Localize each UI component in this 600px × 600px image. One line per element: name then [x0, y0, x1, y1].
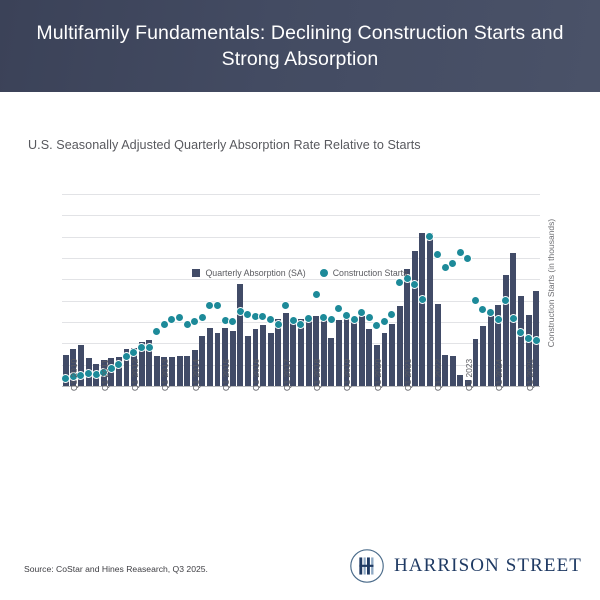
- bar: [298, 319, 304, 386]
- x-axis-tick-label: Q1 2018: [312, 359, 322, 391]
- logo-wordmark: HARRISON STREET: [394, 555, 582, 577]
- x-axis-tick-label: Q1 2015: [221, 359, 231, 391]
- scatter-point: [471, 296, 480, 305]
- bar: [351, 319, 357, 386]
- bar: [366, 329, 372, 386]
- bar: [275, 319, 281, 386]
- gridline: [62, 301, 540, 302]
- scatter-point: [152, 327, 161, 336]
- x-axis-tick-label: Q1 2021: [403, 359, 413, 391]
- bar: [245, 336, 251, 386]
- bar: [488, 316, 494, 386]
- plot-area: 020406080100120140160180 020406080100120…: [62, 194, 540, 386]
- bar: [419, 233, 425, 386]
- scatter-point: [425, 232, 434, 241]
- page-root: Multifamily Fundamentals: Declining Cons…: [0, 0, 600, 600]
- scatter-point: [213, 301, 222, 310]
- chart-container: Quarterly Absorption (SA, in thousands) …: [0, 182, 600, 482]
- bar: [389, 324, 395, 386]
- scatter-point: [463, 254, 472, 263]
- y-axis-right-label: Construction Starts (in thousands): [546, 218, 556, 348]
- x-axis-tick-label: Q1 2012: [130, 359, 140, 391]
- harrison-street-monogram-icon: [349, 548, 385, 584]
- scatter-point: [274, 320, 283, 329]
- x-axis-tick-label: Q1 2011: [100, 359, 110, 391]
- legend-square-icon: [192, 269, 200, 277]
- scatter-point: [532, 336, 541, 345]
- bar: [457, 375, 463, 386]
- scatter-point: [486, 308, 495, 317]
- source-note: Source: CoStar and Hines Reasearch, Q3 2…: [24, 564, 208, 574]
- x-axis-tick-label: Q1 2022: [433, 359, 443, 391]
- scatter-point: [281, 301, 290, 310]
- scatter-point: [350, 315, 359, 324]
- scatter-point: [145, 343, 154, 352]
- bar: [177, 356, 183, 386]
- x-axis-tick-label: Q1 2023: [464, 359, 474, 391]
- legend-item[interactable]: Quarterly Absorption (SA): [192, 268, 305, 278]
- gridline: [62, 279, 540, 280]
- x-axis-tick-label: Q1 2020: [373, 359, 383, 391]
- scatter-point: [327, 315, 336, 324]
- scatter-point: [175, 313, 184, 322]
- page-title: Multifamily Fundamentals: Declining Cons…: [0, 20, 600, 72]
- bar: [442, 355, 448, 386]
- scatter-point: [365, 313, 374, 322]
- scatter-point: [228, 317, 237, 326]
- bar: [215, 333, 221, 386]
- bar: [397, 306, 403, 386]
- x-axis-tick-label: Q1 2024: [494, 359, 504, 391]
- bar: [336, 320, 342, 386]
- bar: [306, 316, 312, 386]
- chart-legend: Quarterly Absorption (SA)Construction St…: [0, 268, 600, 278]
- legend-circle-icon: [320, 269, 328, 277]
- legend-item[interactable]: Construction Starts: [320, 268, 408, 278]
- bar: [184, 356, 190, 386]
- scatter-point: [410, 280, 419, 289]
- bar: [359, 316, 365, 386]
- bar: [450, 356, 456, 386]
- scatter-point: [334, 304, 343, 313]
- gridline: [62, 237, 540, 238]
- bar: [237, 284, 243, 386]
- scatter-point: [509, 314, 518, 323]
- x-axis-tick-label: Q1 2014: [191, 359, 201, 391]
- scatter-point: [312, 290, 321, 299]
- bar: [518, 296, 524, 386]
- x-axis-tick-label: Q1 2017: [282, 359, 292, 391]
- scatter-point: [448, 259, 457, 268]
- x-axis-tick-label: Q1 2016: [251, 359, 261, 391]
- gridline: [62, 194, 540, 195]
- bar: [154, 356, 160, 386]
- legend-label: Construction Starts: [333, 268, 408, 278]
- bar: [207, 328, 213, 386]
- scatter-point: [114, 360, 123, 369]
- x-axis-tick-label: Q1 2025: [525, 359, 535, 391]
- x-axis-tick-label: Q1 2010: [69, 359, 79, 391]
- scatter-point: [501, 296, 510, 305]
- bar: [480, 326, 486, 386]
- chart-subtitle: U.S. Seasonally Adjusted Quarterly Absor…: [28, 138, 421, 152]
- scatter-point: [387, 310, 396, 319]
- x-axis-tick-label: Q1 2013: [160, 359, 170, 391]
- legend-label: Quarterly Absorption (SA): [205, 268, 305, 278]
- x-axis-tick-label: Q1 2019: [342, 359, 352, 391]
- bar: [328, 338, 334, 386]
- scatter-point: [418, 295, 427, 304]
- scatter-point: [198, 313, 207, 322]
- header-banner: Multifamily Fundamentals: Declining Cons…: [0, 0, 600, 92]
- bar: [268, 333, 274, 386]
- scatter-point: [380, 317, 389, 326]
- scatter-point: [494, 315, 503, 324]
- gridline: [62, 215, 540, 216]
- harrison-street-logo: HARRISON STREET: [349, 548, 582, 584]
